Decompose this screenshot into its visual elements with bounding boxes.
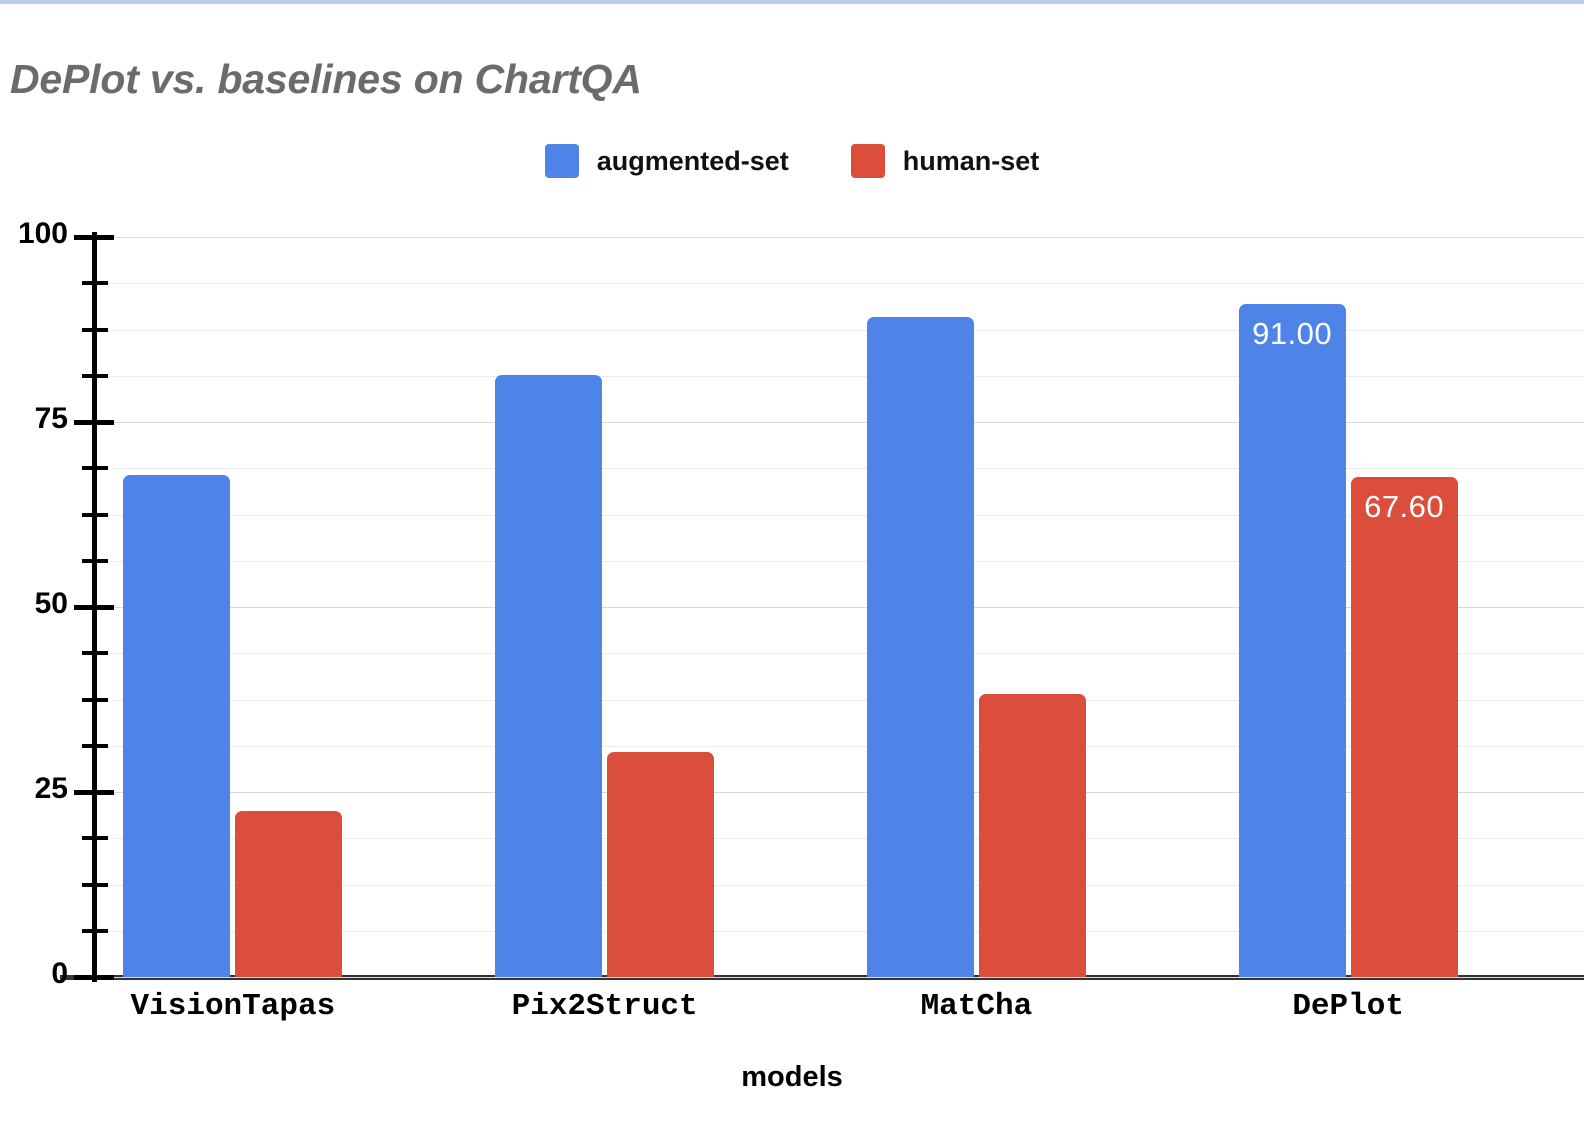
gridline-minor	[97, 376, 1584, 377]
bar-augmented-set-DePlot[interactable]: 91.00	[1239, 304, 1346, 977]
legend-item-human-set[interactable]: human-set	[851, 144, 1040, 178]
y-axis-tick-minor	[82, 466, 108, 470]
gridline-minor	[97, 283, 1584, 284]
y-axis-tick-minor	[82, 374, 108, 378]
x-axis-label-Pix2Struct: Pix2Struct	[435, 989, 774, 1024]
page-title: DePlot vs. baselines on ChartQA	[10, 56, 642, 103]
x-axis-label-DePlot: DePlot	[1179, 989, 1518, 1024]
y-axis-tick-minor	[82, 651, 108, 655]
gridline-minor	[97, 468, 1584, 469]
chart-legend: augmented-set human-set	[0, 144, 1584, 178]
y-axis-tick-minor	[82, 836, 108, 840]
legend-label-augmented-set: augmented-set	[597, 146, 789, 177]
y-axis-tick-label: 25	[0, 772, 68, 806]
y-axis-tick-minor	[82, 559, 108, 563]
gridline-major	[97, 422, 1584, 423]
bar-augmented-set-MatCha[interactable]	[867, 317, 974, 977]
legend-swatch-icon-human-set	[851, 144, 885, 178]
legend-swatch-icon-augmented-set	[545, 144, 579, 178]
bar-augmented-set-Pix2Struct[interactable]	[495, 375, 602, 977]
y-axis-tick-minor	[82, 513, 108, 517]
chart-slide: DePlot vs. baselines on ChartQA augmente…	[0, 0, 1584, 1142]
legend-item-augmented-set[interactable]: augmented-set	[545, 144, 789, 178]
y-axis-tick-minor	[82, 698, 108, 702]
y-axis-tick-major	[74, 975, 114, 980]
x-axis-label-MatCha: MatCha	[807, 989, 1146, 1024]
y-axis-tick-label: 100	[0, 217, 68, 251]
y-axis-tick-major	[74, 235, 114, 240]
x-axis-title: models	[0, 1061, 1584, 1094]
bar-augmented-set-VisionTapas[interactable]	[123, 475, 230, 977]
bar-value-label: 67.60	[1351, 489, 1458, 525]
y-axis-tick-minor	[82, 281, 108, 285]
bar-human-set-Pix2Struct[interactable]	[607, 752, 714, 977]
y-axis-tick-minor	[82, 929, 108, 933]
gridline-minor	[97, 330, 1584, 331]
y-axis-tick-major	[74, 420, 114, 425]
y-axis-tick-minor	[82, 328, 108, 332]
y-axis-tick-label: 0	[0, 957, 68, 991]
bar-human-set-VisionTapas[interactable]	[235, 811, 342, 977]
bar-human-set-MatCha[interactable]	[979, 694, 1086, 977]
legend-label-human-set: human-set	[903, 146, 1040, 177]
x-axis-label-VisionTapas: VisionTapas	[63, 989, 402, 1024]
y-axis-tick-minor	[82, 744, 108, 748]
y-axis-tick-label: 75	[0, 402, 68, 436]
y-axis-tick-major	[74, 605, 114, 610]
gridline-major	[97, 237, 1584, 238]
plot-area: 91.0067.60	[97, 237, 1584, 977]
gridline-major	[97, 977, 1584, 978]
bar-human-set-DePlot[interactable]: 67.60	[1351, 477, 1458, 977]
bar-value-label: 91.00	[1239, 316, 1346, 352]
y-axis-tick-minor	[82, 883, 108, 887]
y-axis-tick-label: 50	[0, 587, 68, 621]
y-axis-tick-major	[74, 790, 114, 795]
